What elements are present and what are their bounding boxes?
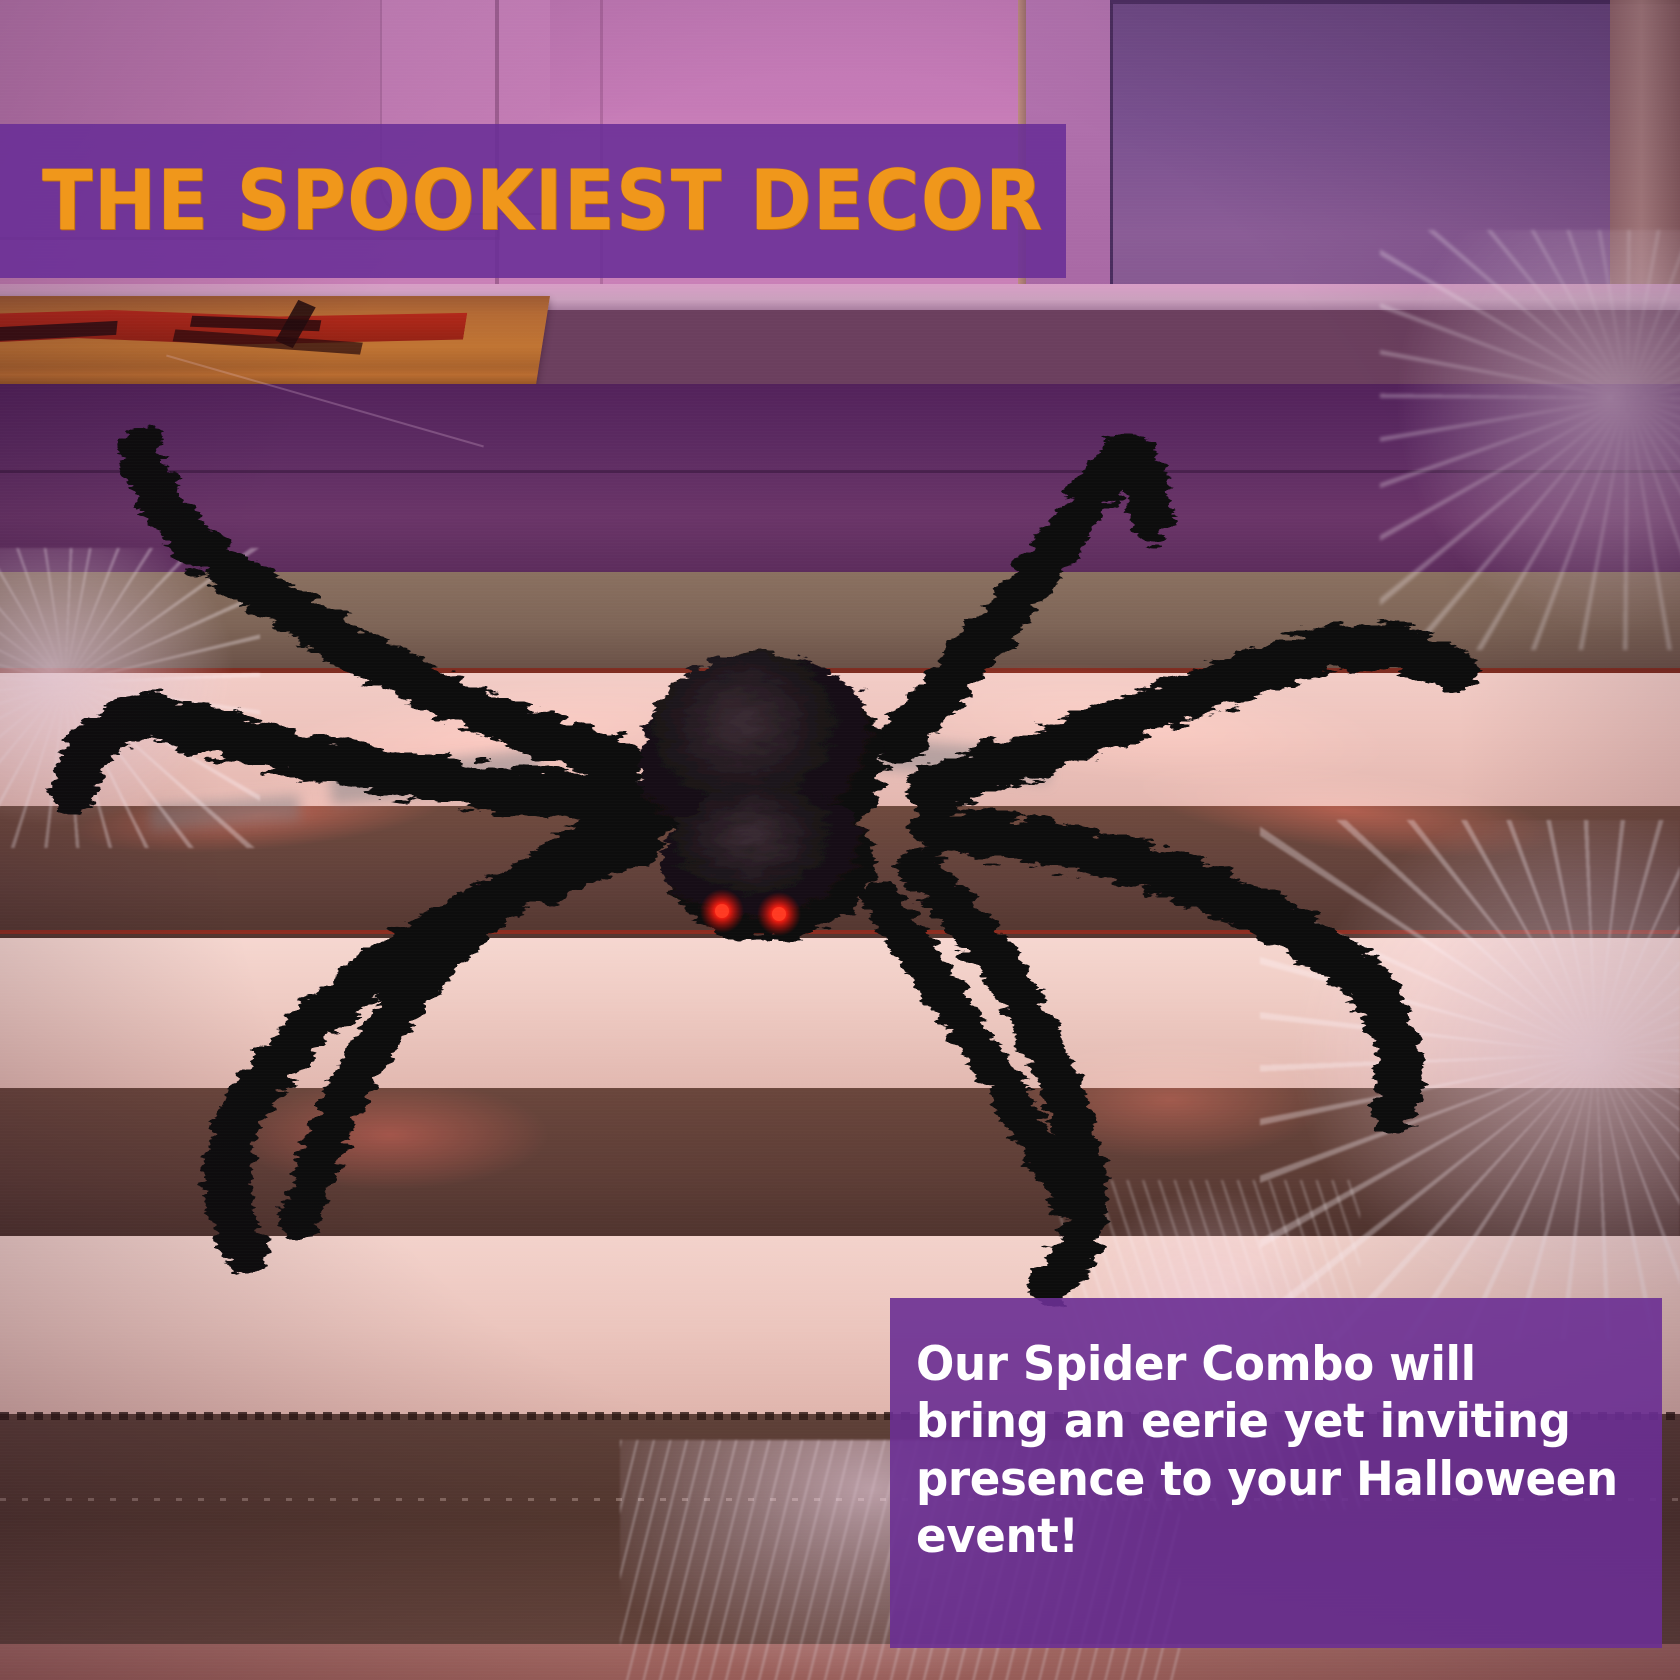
caption-line: Our Spider Combo will [916, 1336, 1632, 1393]
landing-seam [0, 470, 1680, 473]
porch-post [1610, 0, 1680, 300]
step-2-riser [0, 806, 1680, 938]
step-2-tread [0, 938, 1680, 1088]
caption-line: event! [916, 1508, 1632, 1565]
doormat [0, 296, 550, 388]
caption-line: bring an eerie yet inviting [916, 1393, 1632, 1450]
caption-box: Our Spider Combo will bring an eerie yet… [890, 1298, 1662, 1648]
ground-strip [0, 1644, 1680, 1680]
headline-banner: THE SPOOKIEST DECOR [0, 124, 1066, 278]
marketing-image: THE SPOOKIEST DECOR Our Spider Combo wil… [0, 0, 1680, 1680]
step-1-tread [0, 668, 1680, 813]
headline-text: THE SPOOKIEST DECOR [42, 160, 1044, 243]
porch-landing [0, 384, 1680, 574]
step-1-riser [0, 572, 1680, 668]
step-2-edge-line [0, 930, 1680, 934]
step-3-riser [0, 1088, 1680, 1236]
caption-line: presence to your Halloween [916, 1451, 1632, 1508]
porch-wall-right [1110, 0, 1680, 309]
